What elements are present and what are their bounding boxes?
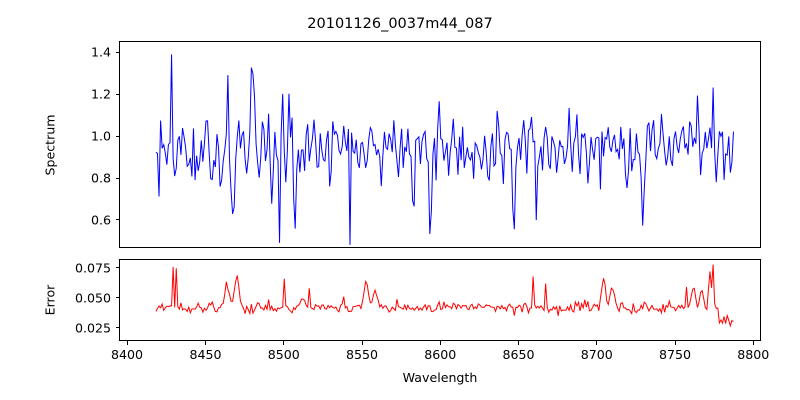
spectrum-ytick-1 bbox=[116, 178, 120, 179]
xticklabel-1: 8450 bbox=[189, 347, 221, 362]
figure-title: 20101126_0037m44_087 bbox=[0, 16, 800, 32]
xtick-8450 bbox=[205, 341, 206, 345]
spectrum-ytick-0 bbox=[116, 219, 120, 220]
error-axes bbox=[119, 259, 761, 341]
matplotlib-figure: 20101126_0037m44_087 0.6 0.8 1.0 1.2 1.4… bbox=[0, 0, 800, 400]
spectrum-plot-area bbox=[120, 42, 760, 247]
spectrum-axes bbox=[119, 41, 761, 248]
xtick-8800 bbox=[753, 341, 754, 345]
error-yticklabel-2: 0.075 bbox=[64, 261, 111, 276]
error-yticklabel-1: 0.050 bbox=[64, 291, 111, 306]
error-plot-area bbox=[120, 260, 760, 340]
xticklabel-6: 8700 bbox=[581, 347, 613, 362]
x-axis-label: Wavelength bbox=[403, 370, 478, 385]
xtick-8400 bbox=[127, 341, 128, 345]
xticklabel-4: 8600 bbox=[424, 347, 456, 362]
xticklabel-5: 8650 bbox=[502, 347, 534, 362]
spectrum-yticklabel-0: 0.6 bbox=[77, 213, 111, 228]
spectrum-line-svg bbox=[120, 42, 760, 247]
error-line-svg bbox=[120, 260, 760, 340]
xtick-8750 bbox=[675, 341, 676, 345]
error-axis-label: Error bbox=[43, 285, 58, 316]
spectrum-yticklabel-1: 0.8 bbox=[77, 171, 111, 186]
spectrum-yticklabel-2: 1.0 bbox=[77, 129, 111, 144]
spectrum-ytick-2 bbox=[116, 136, 120, 137]
spectrum-axis-label: Spectrum bbox=[43, 114, 58, 175]
error-ytick-2 bbox=[116, 267, 120, 268]
spectrum-yticklabel-4: 1.4 bbox=[77, 45, 111, 60]
xtick-8500 bbox=[283, 341, 284, 345]
xtick-8700 bbox=[596, 341, 597, 345]
xtick-8550 bbox=[362, 341, 363, 345]
xtick-8600 bbox=[440, 341, 441, 345]
xtick-8650 bbox=[518, 341, 519, 345]
error-panel-path bbox=[156, 265, 734, 326]
error-ytick-1 bbox=[116, 297, 120, 298]
spectrum-panel-path bbox=[156, 54, 734, 245]
xticklabel-2: 8500 bbox=[268, 347, 300, 362]
xticklabel-7: 8750 bbox=[659, 347, 691, 362]
spectrum-yticklabel-3: 1.2 bbox=[77, 87, 111, 102]
error-yticklabel-0: 0.025 bbox=[64, 321, 111, 336]
error-ytick-0 bbox=[116, 327, 120, 328]
spectrum-ytick-4 bbox=[116, 52, 120, 53]
spectrum-ytick-3 bbox=[116, 94, 120, 95]
xticklabel-0: 8400 bbox=[111, 347, 143, 362]
xticklabel-8: 8800 bbox=[737, 347, 769, 362]
xticklabel-3: 8550 bbox=[346, 347, 378, 362]
